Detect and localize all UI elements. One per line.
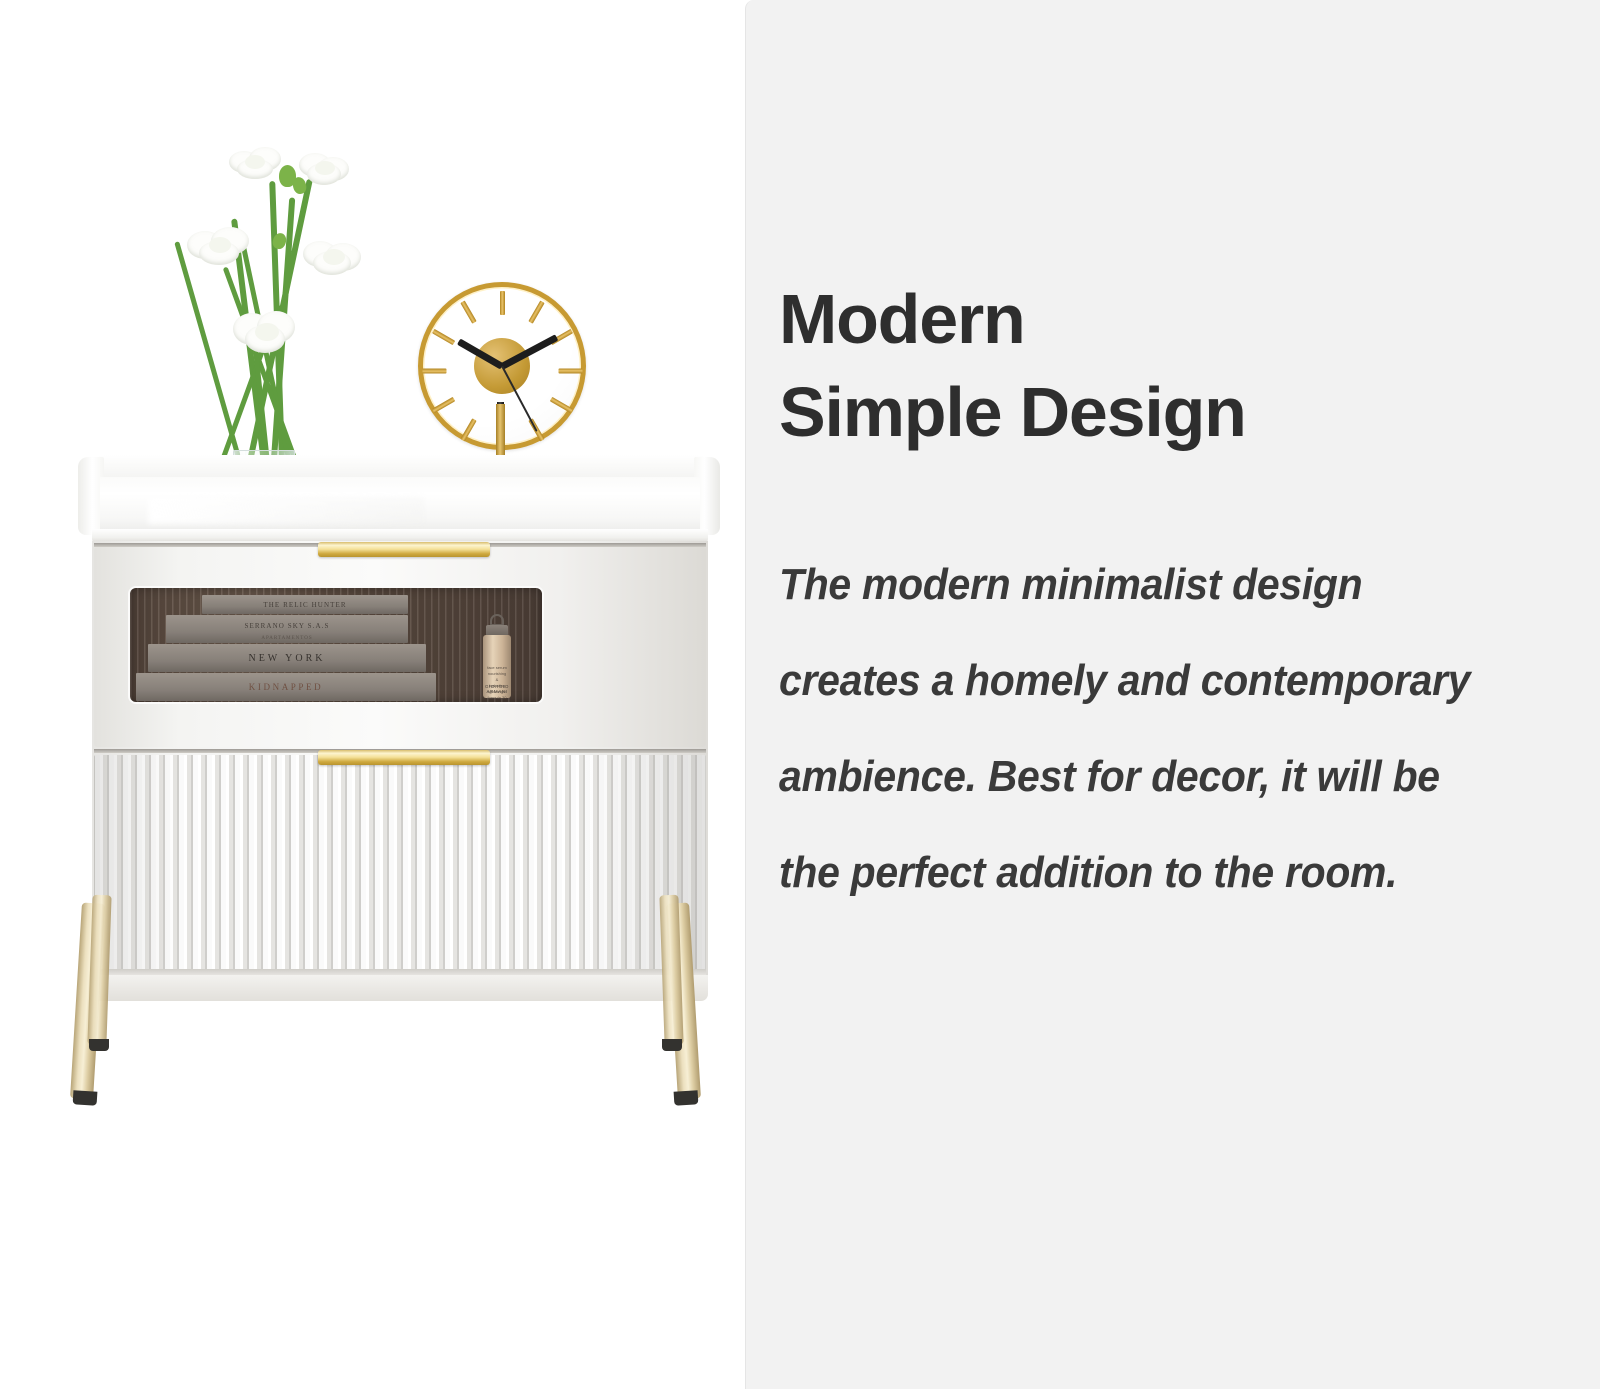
- flower-bloom: [233, 305, 295, 357]
- foot-front-right: [674, 1090, 699, 1105]
- flower-bloom: [187, 223, 249, 269]
- page-title: Modern Simple Design: [779, 273, 1569, 459]
- book-spine: SERRANO SKY S.A.S APARTAMENTOS: [166, 615, 408, 643]
- foot-back-left: [89, 1039, 109, 1051]
- promo-banner: THE RELIC HUNTER SERRANO SKY S.A.S APART…: [0, 0, 1600, 1389]
- nightstand-cabinet: [78, 455, 720, 1015]
- lower-drawer[interactable]: [94, 755, 706, 975]
- book-title: SERRANO SKY S.A.S: [245, 622, 330, 630]
- copy-pane: Modern Simple Design The modern minimali…: [745, 0, 1600, 1389]
- flower-vase: [175, 135, 370, 510]
- serum-brand: GIORGIO ARMANI: [485, 684, 509, 694]
- body-line-3: ambience. Best for decor, it will be: [779, 729, 1514, 825]
- flower-bloom: [229, 145, 281, 181]
- product-photo-pane: THE RELIC HUNTER SERRANO SKY S.A.S APART…: [0, 0, 745, 1389]
- body-copy: The modern minimalist design creates a h…: [779, 537, 1514, 921]
- flower-bloom: [297, 149, 349, 187]
- book-title: KIDNAPPED: [249, 682, 323, 692]
- upper-drawer-handle[interactable]: [318, 542, 490, 557]
- lower-drawer-handle[interactable]: [318, 750, 490, 765]
- cabinet-plinth: [92, 975, 708, 1001]
- book-spine: NEW YORK: [148, 644, 426, 672]
- foot-back-right: [662, 1039, 682, 1051]
- book-subtitle: APARTAMENTOS: [166, 636, 408, 641]
- body-line-2: creates a homely and contemporary: [779, 633, 1514, 729]
- headline-line-1: Modern: [779, 280, 1025, 358]
- glass-drawer-insert: THE RELIC HUNTER SERRANO SKY S.A.S APART…: [128, 586, 544, 704]
- book-spine: KIDNAPPED: [136, 673, 436, 701]
- serum-body: face serum nourishing & hydrating lightw…: [483, 635, 511, 698]
- product-image: THE RELIC HUNTER SERRANO SKY S.A.S APART…: [0, 0, 745, 1389]
- headline-line-2: Simple Design: [779, 366, 1569, 459]
- body-line-4: the perfect addition to the room.: [779, 825, 1514, 921]
- serum-bottle: face serum nourishing & hydrating lightw…: [482, 614, 512, 698]
- book-title: NEW YORK: [248, 653, 325, 664]
- book-spine: THE RELIC HUNTER: [202, 595, 408, 614]
- foot-front-left: [73, 1090, 98, 1105]
- flower-bloom: [303, 235, 361, 279]
- cabinet-top-surface: [100, 477, 700, 533]
- leg-back-left: [87, 895, 111, 1046]
- book-title: THE RELIC HUNTER: [263, 601, 346, 609]
- body-line-1: The modern minimalist design: [779, 537, 1514, 633]
